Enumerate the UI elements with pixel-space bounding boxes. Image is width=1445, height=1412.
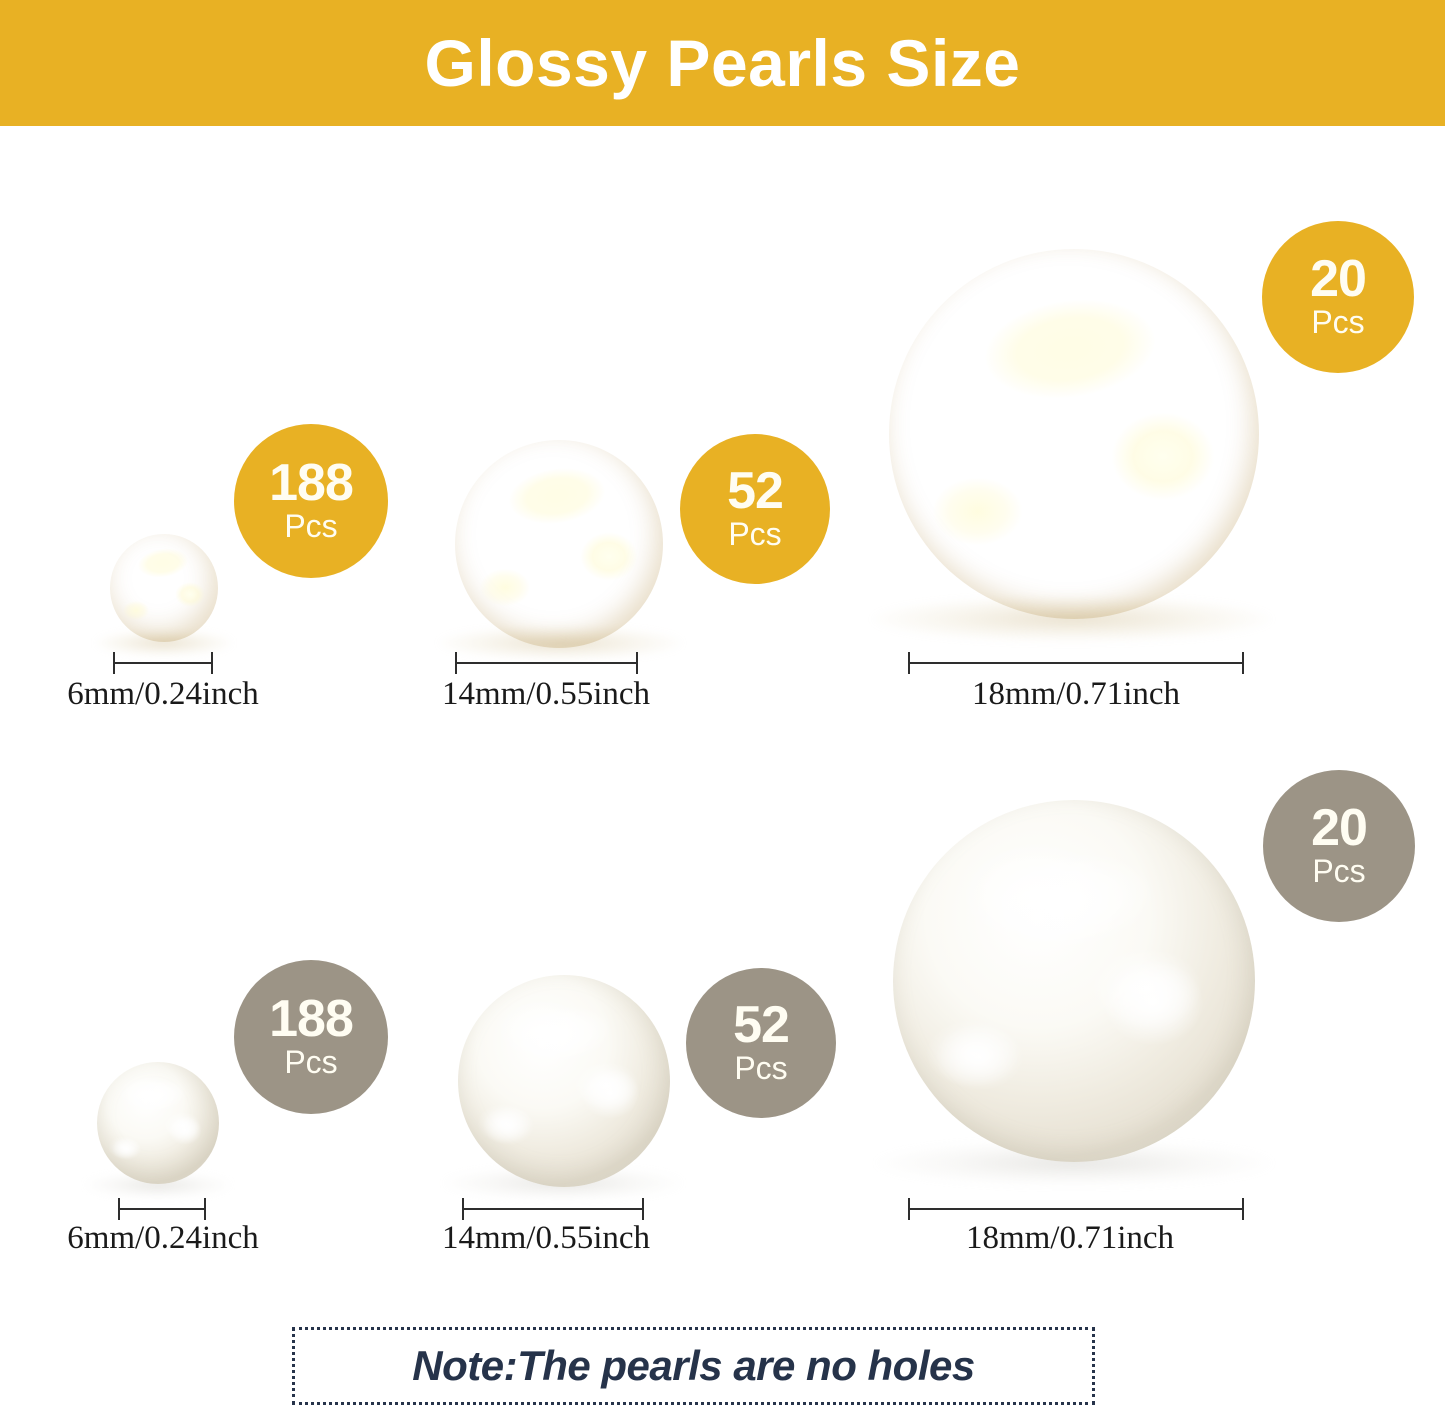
pearl-highlight-icon [580,532,638,582]
badge-count: 52 [733,1002,789,1050]
pearl-highlight-icon [933,478,1022,545]
pearl-gold-small [110,534,218,642]
size-label-gold-large: 18mm/0.71inch [956,676,1196,713]
badge-unit: Pcs [734,1052,787,1084]
size-label-white-large: 18mm/0.71inch [950,1220,1190,1257]
pearl-highlight-icon [936,1024,1023,1089]
pearl-highlight-icon [981,843,1159,959]
pearl-white-large [893,800,1255,1162]
ruler-white-medium [462,1198,644,1220]
pearl-highlight-icon [127,1077,187,1116]
pearl-highlight-icon [123,601,149,620]
badge-count: 20 [1311,805,1367,853]
pearl-highlight-icon [112,1138,141,1160]
ruler-gold-large [908,652,1244,674]
size-label-gold-small: 6mm/0.24inch [43,676,283,713]
infographic-stage: 188 Pcs 6mm/0.24inch 52 Pcs 14mm/0.55inc… [0,0,1445,1412]
pearl-gold-large [889,249,1259,619]
pearl-highlight-icon [510,1000,614,1068]
pearl-highlight-icon [979,289,1161,408]
ruler-gold-small [113,652,213,674]
badge-gold-small[interactable]: 188 Pcs [234,424,388,578]
size-label-white-small: 6mm/0.24inch [43,1220,283,1257]
badge-unit: Pcs [284,510,337,542]
badge-gold-medium[interactable]: 52 Pcs [680,434,830,584]
pearl-highlight-icon [480,569,530,606]
pearl-highlight-icon [136,546,189,581]
badge-unit: Pcs [1311,306,1364,338]
pearl-highlight-icon [168,1116,202,1145]
badge-white-large[interactable]: 20 Pcs [1263,770,1415,922]
badge-count: 20 [1310,256,1366,304]
badge-gold-large[interactable]: 20 Pcs [1262,221,1414,373]
pearl-highlight-icon [506,463,608,530]
badge-count: 188 [269,460,353,508]
size-label-white-medium: 14mm/0.55inch [426,1220,666,1257]
pearl-white-small [97,1062,219,1184]
badge-white-medium[interactable]: 52 Pcs [686,968,836,1118]
pearl-gold-medium [455,440,663,648]
badge-unit: Pcs [284,1046,337,1078]
size-label-gold-medium: 14mm/0.55inch [426,676,666,713]
badge-count: 52 [727,468,783,516]
pearl-white-medium [458,975,670,1187]
note-box: Note:The pearls are no holes [292,1327,1095,1405]
pearl-highlight-icon [175,582,205,608]
badge-unit: Pcs [1312,855,1365,887]
pearl-highlight-icon [1111,412,1215,501]
pearl-highlight-icon [581,1068,640,1119]
pearl-highlight-icon [1103,959,1204,1046]
pearl-highlight-icon [483,1106,534,1144]
ruler-gold-medium [455,652,638,674]
ruler-white-large [908,1198,1244,1220]
badge-unit: Pcs [728,518,781,550]
badge-white-small[interactable]: 188 Pcs [234,960,388,1114]
badge-count: 188 [269,996,353,1044]
note-text: Note:The pearls are no holes [412,1342,974,1390]
ruler-white-small [118,1198,206,1220]
